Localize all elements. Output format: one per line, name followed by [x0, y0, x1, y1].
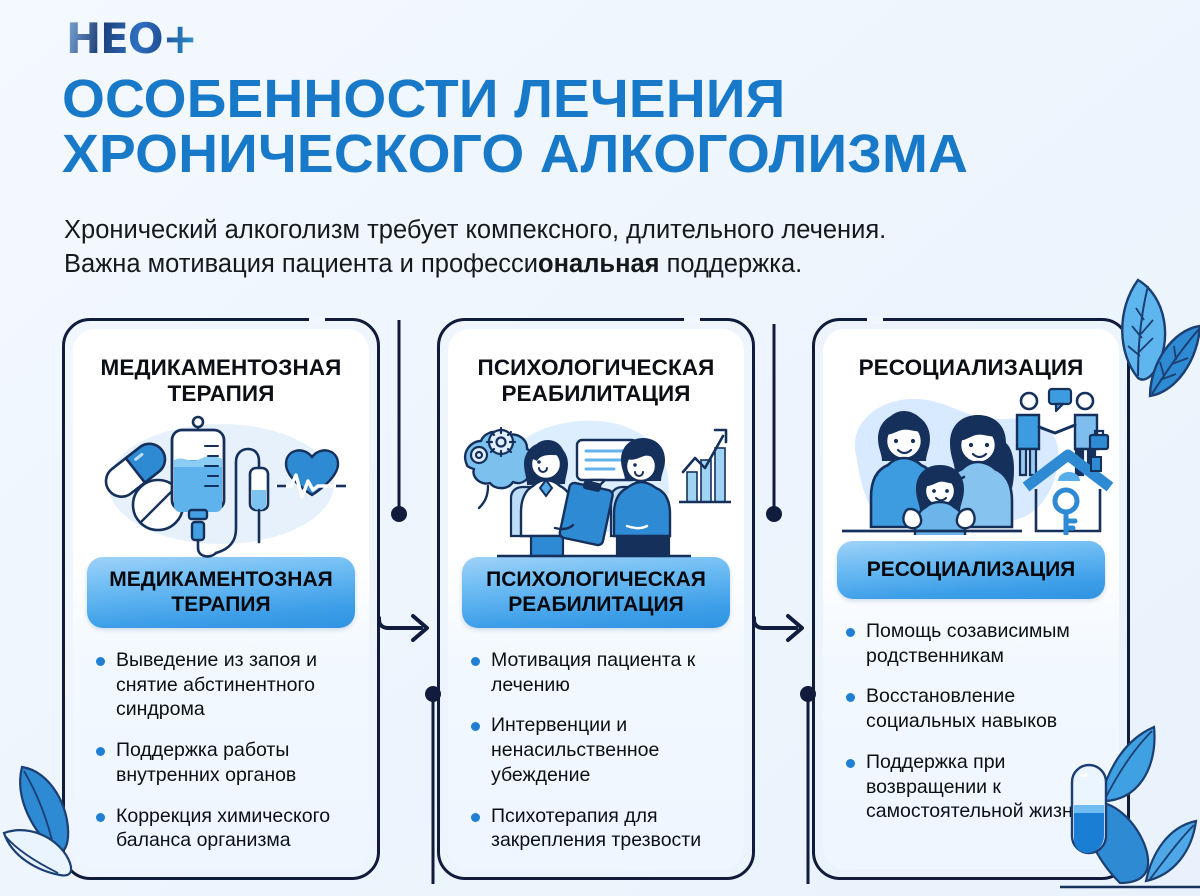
page-subtitle-line-2: Важна мотивация пациента и профессиональ…: [64, 247, 1124, 281]
card-bullet-list: Мотивация пациента к лечению Интервенции…: [448, 628, 744, 869]
page-title: ОСОБЕННОСТИ ЛЕЧЕНИЯ ХРОНИЧЕСКОГО АЛКОГОЛ…: [62, 72, 1174, 182]
pills-iv-drip-heart-pulse-icon: [73, 410, 369, 551]
list-item: Коррекция химического баланса организма: [95, 804, 351, 854]
brand-logo: НЕО+: [66, 18, 197, 60]
list-item: Восстановление социальных навыков: [845, 684, 1101, 734]
card-resocialization[interactable]: РЕСОЦИАЛИЗАЦИЯ: [812, 318, 1130, 880]
card-border-notch: [867, 316, 883, 324]
card-badge[interactable]: РЕСОЦИАЛИЗАЦИЯ: [837, 541, 1105, 599]
card-border-notch: [684, 316, 700, 324]
page-subtitle-line-1: Хронический алкоголизм требует компексно…: [64, 213, 1124, 247]
page-title-line-1: ОСОБЕННОСТИ ЛЕЧЕНИЯ: [62, 72, 1174, 127]
list-item: Психотерапия для закрепления трезвости: [470, 804, 726, 854]
card-heading: МЕДИКАМЕНТОЗНАЯ ТЕРАПИЯ: [73, 329, 369, 406]
list-item: Помощь созависимым родственникам: [845, 619, 1101, 669]
arrow-card2-to-card3: [754, 616, 802, 640]
subtitle-pre: Важна мотивация пациента и професси: [64, 250, 538, 278]
page-title-line-2: ХРОНИЧЕСКОГО АЛКОГОЛИЗМА: [62, 127, 1174, 182]
cards-row: МЕДИКАМЕНТОЗНАЯ ТЕРАПИЯ: [0, 318, 1200, 888]
arrow-card1-to-card2: [379, 616, 427, 640]
card-bullet-list: Выведение из запоя и снятие абстинентног…: [73, 628, 369, 869]
card-heading: РЕСОЦИАЛИЗАЦИЯ: [823, 329, 1119, 381]
connector-card1-card2: [375, 318, 455, 888]
list-item: Поддержка при возвращении к самостоятель…: [845, 750, 1101, 824]
card-border-notch: [309, 316, 325, 324]
subtitle-post: поддержка.: [660, 250, 803, 278]
list-item: Интервенции и ненасильственное убеждение: [470, 713, 726, 787]
list-item: Поддержка работы внутренних органов: [95, 738, 351, 788]
card-bullet-list: Помощь созависимым родственникам Восстан…: [823, 599, 1119, 869]
card-badge[interactable]: МЕДИКАМЕНТОЗНАЯ ТЕРАПИЯ: [87, 557, 355, 627]
connector-card2-card3: [750, 318, 830, 888]
card-badge[interactable]: ПСИХОЛОГИЧЕСКАЯ РЕАБИЛИТАЦИЯ: [462, 557, 730, 627]
card-medication-therapy[interactable]: МЕДИКАМЕНТОЗНАЯ ТЕРАПИЯ: [62, 318, 380, 880]
family-handshake-house-key-icon: [823, 385, 1119, 535]
page-subtitle: Хронический алкоголизм требует компексно…: [64, 213, 1124, 281]
subtitle-emphasis: ональная: [538, 250, 660, 278]
list-item: Выведение из запоя и снятие абстинентног…: [95, 648, 351, 722]
list-item: Мотивация пациента к лечению: [470, 648, 726, 698]
card-heading: ПСИХОЛОГИЧЕСКАЯ РЕАБИЛИТАЦИЯ: [448, 329, 744, 406]
brain-gears-therapist-patient-growth-chart-icon: [448, 410, 744, 551]
card-psychological-rehabilitation[interactable]: ПСИХОЛОГИЧЕСКАЯ РЕАБИЛИТАЦИЯ: [437, 318, 755, 880]
